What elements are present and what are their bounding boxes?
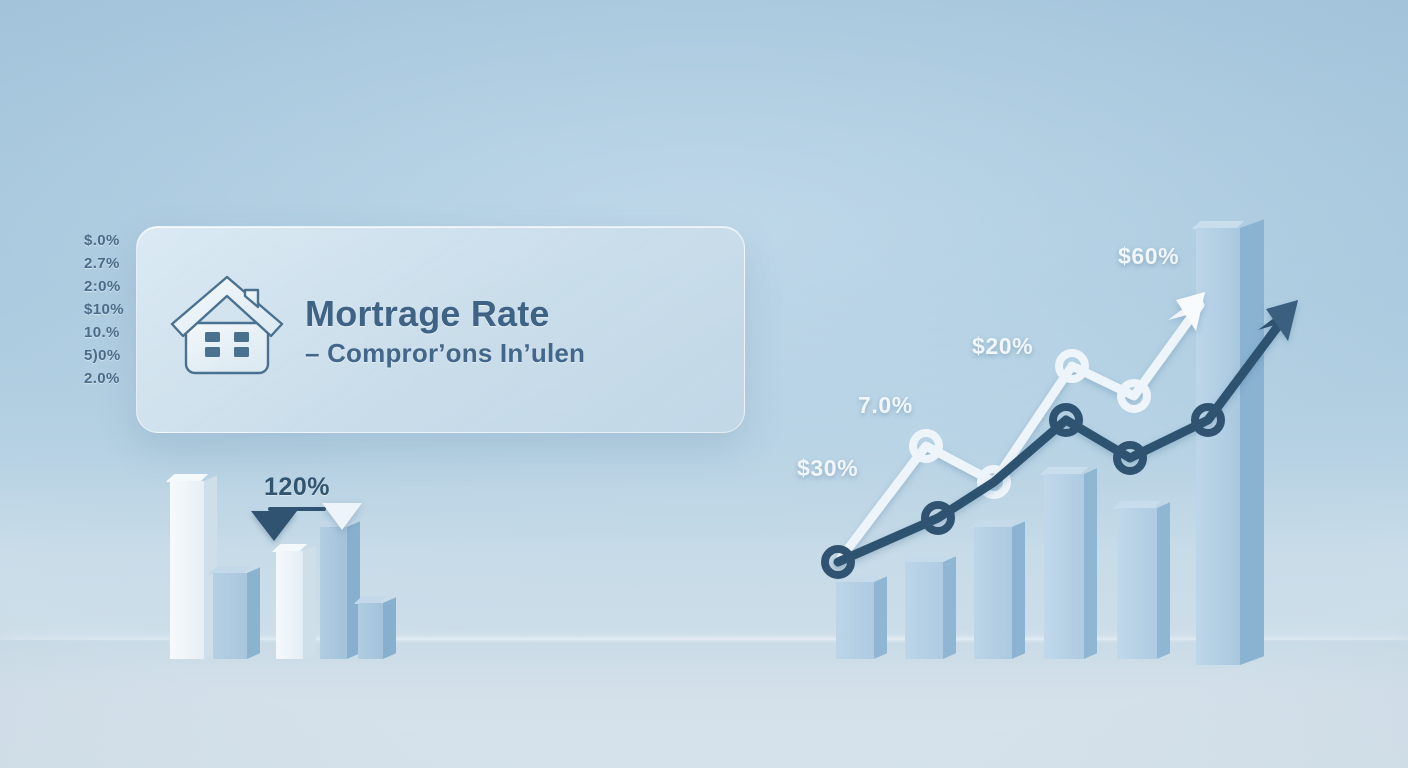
bar-front-face <box>170 481 204 659</box>
page-subtitle: – Comprorʼons Inʼulen <box>305 339 585 369</box>
page-title: Mortrage Rate <box>305 294 585 334</box>
right-bar-5 <box>1117 508 1157 659</box>
axis-label: 5)0% <box>84 348 142 363</box>
axis-label: 2:0% <box>84 279 142 294</box>
data-label-30: $30% <box>797 455 858 482</box>
bar-side-face <box>1157 502 1170 659</box>
left-bar-3 <box>276 551 303 659</box>
bar-side-face <box>303 545 316 659</box>
bar-front-face <box>276 551 303 659</box>
left-bar-4 <box>320 527 347 659</box>
left-bar-2 <box>213 573 247 659</box>
title-block: Mortrage Rate – Comprorʼons Inʼulen <box>305 290 585 368</box>
bar-front-face <box>320 527 347 659</box>
data-label-7: 7.0% <box>858 392 913 419</box>
bar-front-face <box>974 527 1012 659</box>
bar-front-face <box>1117 508 1157 659</box>
axis-label-column: $.0% 2.7% 2:0% $10% 10.% 5)0% 2.0% <box>84 233 142 386</box>
bar-front-face <box>213 573 247 659</box>
bar-front-face <box>905 562 943 659</box>
right-bar-1 <box>836 582 874 659</box>
bar-side-face <box>874 576 887 659</box>
right-bar-3 <box>974 527 1012 659</box>
data-label-60: $60% <box>1118 243 1179 270</box>
bar-side-face <box>1012 521 1025 659</box>
bar-front-face <box>1196 228 1240 665</box>
bar-front-face <box>358 603 383 659</box>
axis-label: $10% <box>84 302 142 317</box>
left-bar-5 <box>358 603 383 659</box>
bar-side-face <box>943 556 956 659</box>
right-bar-4 <box>1044 474 1084 659</box>
triangle-down-icon <box>251 511 297 541</box>
title-card: Mortrage Rate – Comprorʼons Inʼulen <box>136 226 745 433</box>
bar-side-face <box>1084 468 1097 659</box>
bar-front-face <box>1044 474 1084 659</box>
axis-label: 2.0% <box>84 371 142 386</box>
data-label-20: $20% <box>972 333 1033 360</box>
bar-side-face <box>383 597 396 659</box>
left-bar-1 <box>170 481 204 659</box>
bar-side-face <box>247 567 260 659</box>
axis-label: $.0% <box>84 233 142 248</box>
bar-side-face <box>1240 219 1264 665</box>
axis-label: 2.7% <box>84 256 142 271</box>
axis-label: 10.% <box>84 325 142 340</box>
house-icon <box>163 266 291 394</box>
triangle-down-light-icon <box>322 503 362 530</box>
right-bar-2 <box>905 562 943 659</box>
callout-value: 120% <box>243 473 351 502</box>
right-bar-6-tall <box>1196 228 1240 665</box>
bar-front-face <box>836 582 874 659</box>
